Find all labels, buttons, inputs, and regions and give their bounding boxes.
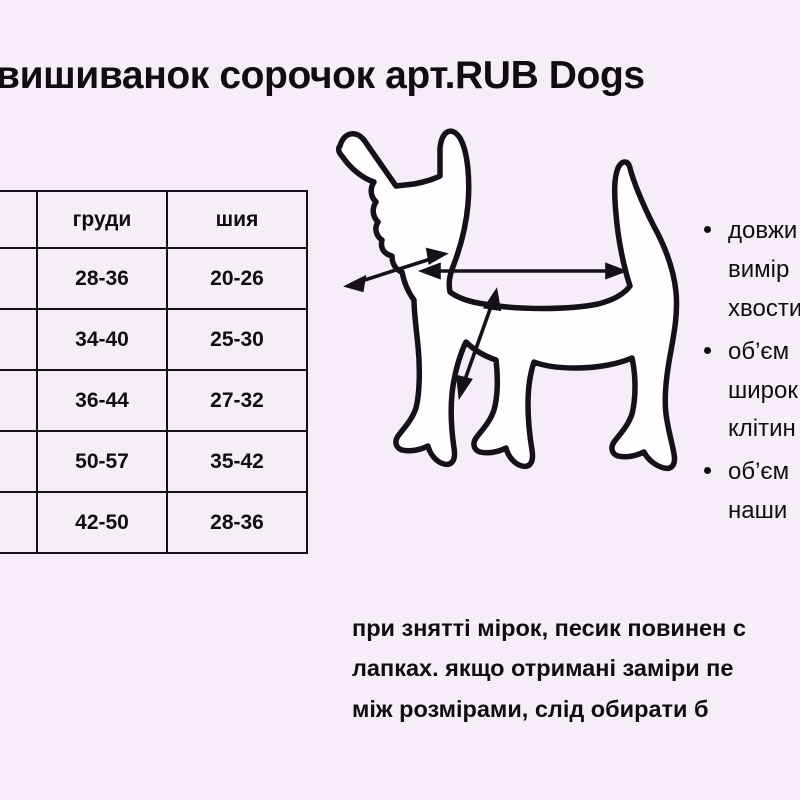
column-header-1: груди: [37, 191, 167, 248]
table-row: 34-40 25-30: [0, 309, 307, 370]
cell-chest-2: 36-44: [37, 370, 167, 431]
measurement-note: при знятті мірок, песик повинен с лапках…: [352, 608, 800, 729]
measurement-instructions-list: довжи вимір хвости об’єм широк клітин об…: [700, 212, 800, 535]
cell-neck-1: 25-30: [167, 309, 307, 370]
table-header-row: а груди шия: [0, 191, 307, 248]
cell-size-0: [0, 248, 37, 309]
page-title: и вишиванок сорочок арт.RUB Dogs: [0, 56, 800, 97]
cell-neck-2: 27-32: [167, 370, 307, 431]
page-root: и вишиванок сорочок арт.RUB Dogs а груди…: [0, 0, 800, 800]
cell-size-4: [0, 492, 37, 553]
cell-neck-0: 20-26: [167, 248, 307, 309]
table-row: 50-57 35-42: [0, 431, 307, 492]
list-item: об’єм наши: [700, 453, 800, 531]
table-row: 36-44 27-32: [0, 370, 307, 431]
cell-chest-1: 34-40: [37, 309, 167, 370]
table-row: 42-50 28-36: [0, 492, 307, 553]
cell-chest-3: 50-57: [37, 431, 167, 492]
size-table-container: а груди шия 28-36 20-26 34-40 25-30: [0, 190, 306, 554]
cell-neck-3: 35-42: [167, 431, 307, 492]
list-item: довжи вимір хвости: [700, 212, 800, 329]
dog-silhouette-icon: [339, 131, 677, 468]
cell-neck-4: 28-36: [167, 492, 307, 553]
list-item: об’єм широк клітин: [700, 333, 800, 450]
dog-measurement-diagram: [318, 108, 738, 558]
cell-chest-4: 42-50: [37, 492, 167, 553]
cell-chest-0: 28-36: [37, 248, 167, 309]
cell-size-2: [0, 370, 37, 431]
column-header-0: а: [0, 191, 37, 248]
cell-size-3: [0, 431, 37, 492]
cell-size-1: [0, 309, 37, 370]
column-header-2: шия: [167, 191, 307, 248]
size-table: а груди шия 28-36 20-26 34-40 25-30: [0, 190, 308, 554]
table-row: 28-36 20-26: [0, 248, 307, 309]
